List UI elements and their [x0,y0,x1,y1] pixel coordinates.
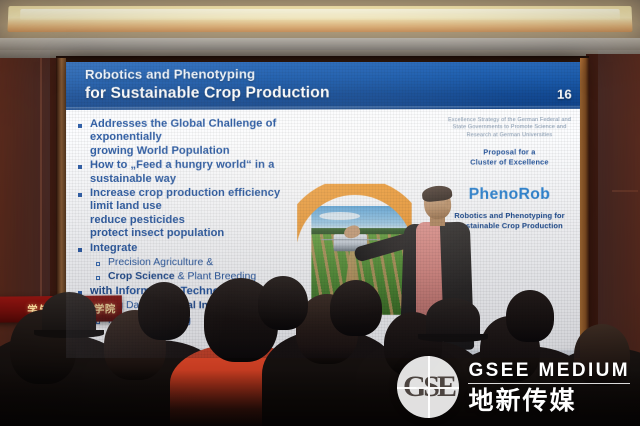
logo-crosshair-vertical [428,356,430,418]
bullet-text-continuation: limit land use [90,200,280,213]
bullet-text: How to „Feed a hungry world“ in a sustai… [90,159,338,186]
bullet-text: Increase crop production efficiency [90,187,280,201]
audience-head-back-row [258,276,308,330]
bullet-square-icon [78,165,82,169]
gsee-logo-icon: GSE [397,356,459,418]
sub-bullet-text: Precision Agriculture & [108,256,213,270]
bullet-text: Addresses the Global Challenge of expone… [90,117,338,144]
bullet-square-icon [78,124,82,128]
bullet-square-icon [78,193,82,197]
audience-head-back-row [330,280,382,336]
watermark-english-text: GSEE MEDIUM [468,360,630,381]
bullet-square-icon [78,248,82,252]
audience-head-back-row [138,282,190,340]
slide-number: 16 [557,87,572,102]
bullet-text-continuation: growing World Population [90,144,338,158]
bullet-item: How to „Feed a hungry world“ in a sustai… [78,159,338,186]
proposal-line-1: Proposal for a [441,147,578,157]
bullet-item: Addresses the Global Challenge of expone… [78,117,338,158]
watermark-chinese-text: 地新传媒 [468,387,630,414]
presenter-ear [445,200,451,209]
ceiling-light-strip [7,6,632,32]
watermark: GSE GSEE MEDIUM 地新传媒 [397,356,630,418]
slide-title-bar: Robotics and Phenotyping for Sustainable… [66,62,580,110]
bullet-text: Integrate [90,242,137,255]
audience-cap [426,298,480,338]
watermark-divider [468,383,630,385]
bullet-hollow-square-icon [96,262,100,266]
right-wall-seam [612,190,638,192]
slide-title-line-1: Robotics and Phenotyping [85,66,255,82]
audience-cap [42,292,96,334]
bullet-text-continuation-3: protect insect population [90,227,280,241]
audience-head-back-row [506,290,554,342]
presentation-photo-scene: Robotics and Phenotyping for Sustainable… [0,0,640,426]
funding-note: Excellence Strategy of the German Federa… [441,117,578,140]
proposal-line-2: Cluster of Excellence [441,157,578,167]
slide-title-line-2: for Sustainable Crop Production [85,84,330,103]
bullet-text-continuation-2: reduce pesticides [90,214,280,227]
watermark-text-block: GSEE MEDIUM 地新传媒 [468,360,630,415]
